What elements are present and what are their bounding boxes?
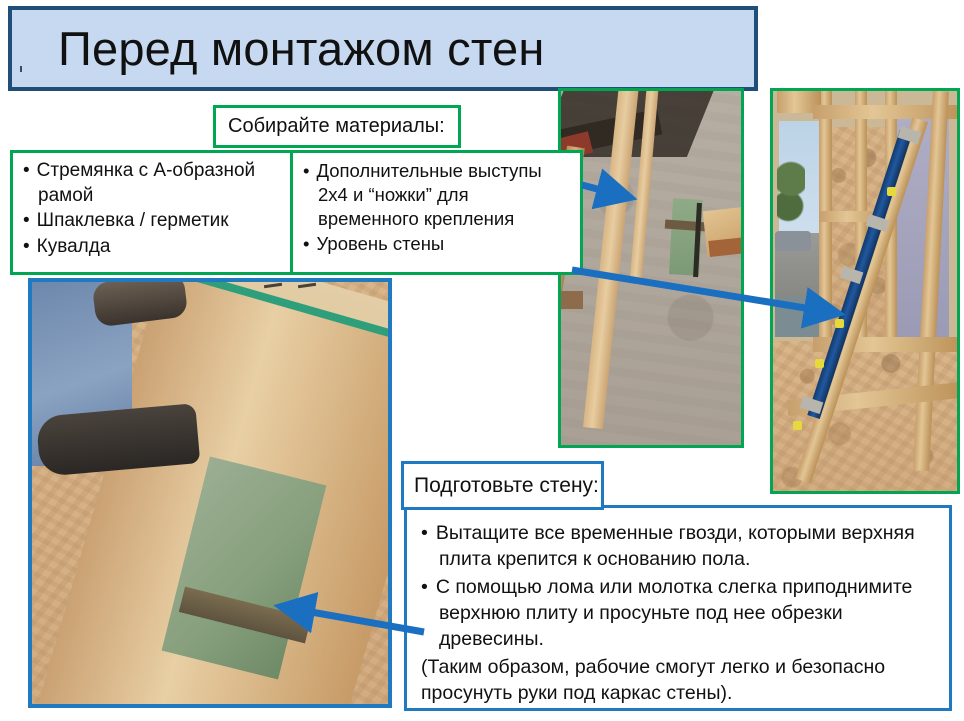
- photo-level-vial-3: [815, 359, 824, 368]
- photo-car: [775, 231, 811, 251]
- prepare-wall-header-box: Подготовьте стену:: [401, 461, 604, 510]
- list-item: Стремянка с А-образной рамой: [23, 159, 284, 208]
- materials-list-right: Дополнительные выступы 2х4 и “ножки” для…: [290, 150, 583, 275]
- list-item: Кувалда: [23, 235, 284, 260]
- photo-level-vial-4: [793, 421, 802, 430]
- photo-small-block: [558, 291, 583, 309]
- slide-title-box: Перед монтажом стен: [8, 6, 758, 91]
- prepare-wall-box: Вытащите все временные гвозди, которыми …: [404, 505, 952, 711]
- photo-lumber-on-subfloor: [558, 88, 744, 448]
- photo-puddle: [775, 297, 823, 337]
- slide-canvas: Перед монтажом стен: [0, 0, 964, 721]
- photo-level-vial-1: [887, 187, 896, 196]
- photo-level-vial-2: [835, 319, 844, 328]
- list-item: Вытащите все временные гвозди, которыми …: [421, 520, 941, 573]
- materials-header-box: Собирайте материалы:: [213, 105, 461, 148]
- photo-boot-and-shim-under-plate: [28, 278, 392, 708]
- page-title: Перед монтажом стен: [12, 25, 545, 72]
- prepare-wall-note: (Таким образом, рабочие смогут легко и б…: [421, 654, 941, 707]
- photo-left-background: [32, 282, 388, 704]
- prepare-wall-items: Вытащите все временные гвозди, которыми …: [421, 520, 941, 653]
- title-speck-artifact: [20, 66, 22, 72]
- list-item: Шпаклевка / герметик: [23, 209, 284, 234]
- materials-list-left: Стремянка с А-образной рамой Шпаклевка /…: [10, 150, 293, 275]
- photo-tree: [777, 143, 805, 233]
- photo-wood-block-end: [708, 237, 744, 257]
- photo-frame-background: [773, 91, 957, 491]
- materials-list-left-items: Стремянка с А-образной рамой Шпаклевка /…: [13, 153, 290, 260]
- materials-header-label: Собирайте материалы:: [216, 115, 445, 138]
- photo-wall-frame-with-level: [770, 88, 960, 494]
- materials-list-right-items: Дополнительные выступы 2х4 и “ножки” для…: [293, 153, 580, 256]
- list-item: Дополнительные выступы 2х4 и “ножки” для…: [303, 159, 574, 231]
- list-item: Уровень стены: [303, 232, 574, 256]
- prepare-wall-header-label: Подготовьте стену:: [404, 474, 599, 498]
- list-item: С помощью лома или молотка слегка припод…: [421, 574, 941, 653]
- photo-lumber-background: [561, 91, 741, 445]
